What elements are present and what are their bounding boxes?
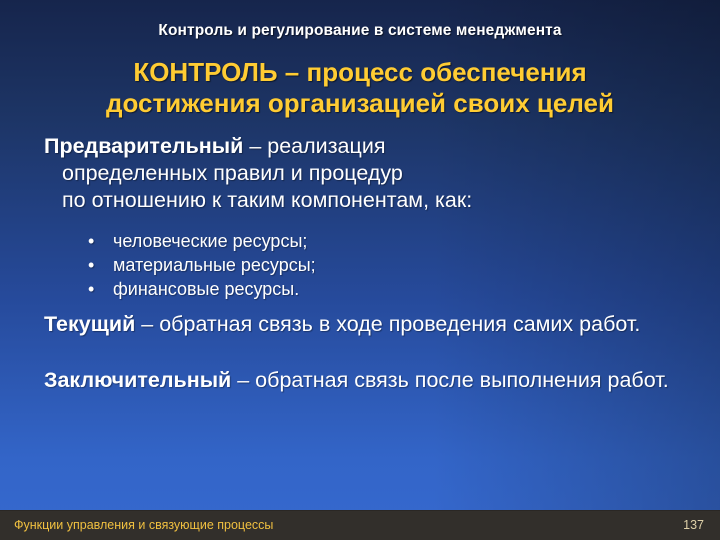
paragraph-final-line-2: выполнения работ. xyxy=(480,368,669,392)
paragraph-preliminary: Предварительный – реализация определенны… xyxy=(44,133,684,214)
paragraph-final: Заключительный – обратная связь после вы… xyxy=(44,366,692,394)
paragraph-preliminary-line-1-rest: – реализация xyxy=(243,134,385,158)
presentation-slide: Контроль и регулирование в системе менед… xyxy=(0,0,720,540)
slide-footer-bar: Функции управления и связующие процессы … xyxy=(0,510,720,540)
bullet-dot-icon: • xyxy=(88,253,94,277)
bullet-dot-icon: • xyxy=(88,229,94,253)
list-item: • человеческие ресурсы; xyxy=(84,229,316,253)
list-item-label: материальные ресурсы; xyxy=(113,255,316,275)
list-item: • материальные ресурсы; xyxy=(84,253,316,277)
paragraph-final-line-1-rest: – обратная связь после xyxy=(231,368,473,392)
paragraph-current-term: Текущий xyxy=(44,312,135,336)
footer-page-number: 137 xyxy=(683,518,704,532)
paragraph-final-term: Заключительный xyxy=(44,368,231,392)
footer-section-label: Функции управления и связующие процессы xyxy=(14,518,273,532)
list-item-label: финансовые ресурсы. xyxy=(113,279,299,299)
paragraph-preliminary-term: Предварительный xyxy=(44,134,243,158)
slide-subtitle: КОНТРОЛЬ – процесс обеспечения достижени… xyxy=(0,57,720,119)
list-item: • финансовые ресурсы. xyxy=(84,277,316,301)
paragraph-current: Текущий – обратная связь в ходе проведен… xyxy=(44,310,692,338)
slide-header-title: Контроль и регулирование в системе менед… xyxy=(0,22,720,40)
resource-bullet-list: • человеческие ресурсы; • материальные р… xyxy=(84,229,316,301)
bullet-dot-icon: • xyxy=(88,277,94,301)
slide-subtitle-line-2: достижения организацией своих целей xyxy=(0,88,720,119)
slide-subtitle-line-1: КОНТРОЛЬ – процесс обеспечения xyxy=(0,57,720,88)
paragraph-current-line-2: самих работ. xyxy=(513,312,640,336)
paragraph-preliminary-line-1: Предварительный – реализация xyxy=(44,133,684,160)
paragraph-current-line-1: Текущий – обратная связь в ходе проведен… xyxy=(44,312,507,336)
paragraph-preliminary-line-2: определенных правил и процедур xyxy=(44,160,684,187)
content-paragraph-preliminary: Предварительный – реализация определенны… xyxy=(44,133,684,214)
paragraph-final-line-1: Заключительный – обратная связь после xyxy=(44,368,474,392)
paragraph-current-line-1-rest: – обратная связь в ходе проведения xyxy=(135,312,507,336)
paragraph-preliminary-line-3: по отношению к таким компонентам, как: xyxy=(44,187,684,214)
list-item-label: человеческие ресурсы; xyxy=(113,231,307,251)
